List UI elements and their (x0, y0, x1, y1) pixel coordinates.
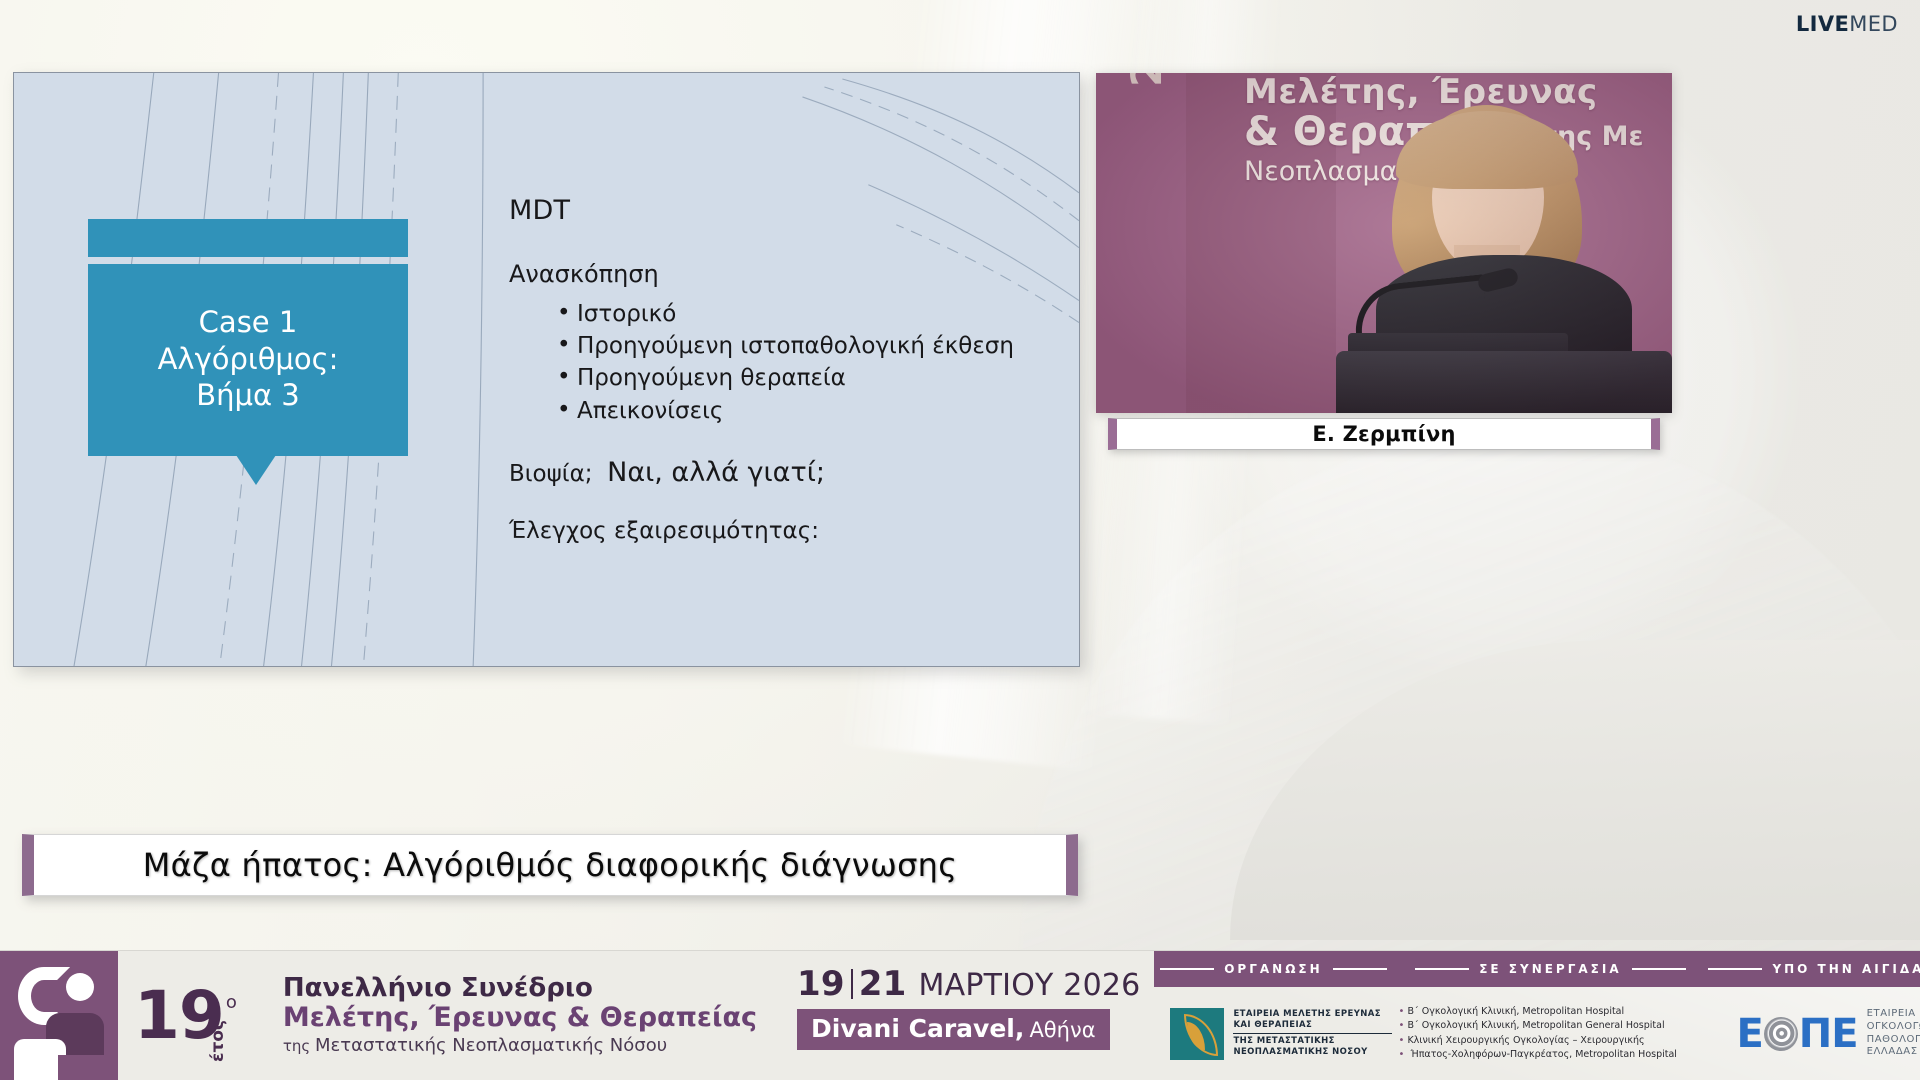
slide-resectability-line: Έλεγχος εξαιρεσιμότητας: (509, 518, 1054, 544)
logo-shape-notch (58, 1055, 104, 1080)
slide-content: MDT Ανασκόπηση Ιστορικό Προηγούμενη ιστο… (509, 195, 1054, 544)
callout-body: Case 1 Αλγόριθμος: Βήμα 3 (88, 264, 408, 456)
header-rule-right (1333, 968, 1387, 970)
edition-ordinal: ο (226, 992, 237, 1013)
partners-header-collaboration-label: ΣΕ ΣΥΝΕΡΓΑΣΙΑ (1479, 962, 1621, 976)
eope-logo: Ε ΠΕ (1736, 1014, 1857, 1054)
edition-word: έτος (208, 1020, 228, 1062)
partners-header-aegis-label: ΥΠΟ ΤΗΝ ΑΙΓΙΔΑ (1772, 962, 1920, 976)
congress-title-line-2: Μελέτης, Έρευνας & Θεραπείας (283, 1003, 757, 1034)
list-item: Β΄ Ογκολογική Κλινική, Metropolitan Hosp… (1398, 1005, 1708, 1019)
callout-top-bar (88, 219, 408, 257)
congress-title-block: 19 ο έτος Πανελλήνιο Συνέδριο Μελέτης, Έ… (118, 951, 769, 1080)
collaborators-list: Β΄ Ογκολογική Κλινική, Metropolitan Hosp… (1392, 1005, 1708, 1063)
list-item: Απεικονίσεις (509, 395, 1054, 427)
slide-section-heading: Ανασκόπηση (509, 260, 1054, 288)
slide-biopsy-line: Βιοψία; Ναι, αλλά γιατί; (509, 457, 1054, 488)
callout-line-1: Case 1 (102, 304, 394, 341)
partners-header-aegis: ΥΠΟ ΤΗΝ ΑΙΓΙΔΑ (1708, 962, 1920, 976)
organizer-logo-icon (1170, 1008, 1224, 1060)
conference-banner: 19 ο έτος Πανελλήνιο Συνέδριο Μελέτης, Έ… (0, 950, 1920, 1080)
congress-title-line-1: Πανελλήνιο Συνέδριο (283, 974, 757, 1003)
partners-header-collaboration: ΣΕ ΣΥΝΕΡΓΑΣΙΑ (1392, 962, 1708, 976)
venue-name: Divani Caravel, (811, 1014, 1024, 1043)
slide-caption-bar: Μάζα ήπατος: Αλγόριθμός διαφορικής διάγν… (22, 834, 1078, 896)
venue-city: Αθήνα (1029, 1018, 1095, 1042)
date-separator (851, 969, 853, 999)
callout-line-2: Αλγόριθμος: (102, 341, 394, 378)
header-rule-left (1708, 968, 1762, 970)
logo-shape-dot (66, 973, 94, 1001)
organizer-name-line-2: ΤΗΣ ΜΕΤΑΣΤΑΤΙΚΗΣ ΝΕΟΠΛΑΣΜΑΤΙΚΗΣ ΝΟΣΟΥ (1233, 1034, 1392, 1059)
list-item: Προηγούμενη θεραπεία (509, 362, 1054, 394)
list-item: Κλινική Χειρουργικής Ογκολογίας – Χειρου… (1398, 1034, 1708, 1048)
congress-title-line-3-prefix: της (283, 1037, 315, 1055)
aegis-block: Ε ΠΕ ΕΤΑΙΡΕΙΑ ΟΓΚΟΛΟΓΩΝ ΠΑΘΟΛΟΓΩΝ ΕΛΛΑΔΑ… (1708, 1008, 1920, 1059)
eope-subtitle-line-1: ΕΤΑΙΡΕΙΑ (1867, 1008, 1920, 1021)
spiral-icon (1764, 1017, 1798, 1051)
congress-title-line-3-main: Μεταστατικής Νεοπλασματικής Νόσου (315, 1035, 667, 1056)
organizer-block: ΕΤΑΙΡΕΙΑ ΜΕΛΕΤΗΣ ΕΡΕΥΝΑΣ ΚΑΙ ΘΕΡΑΠΕΙΑΣ Τ… (1154, 1008, 1392, 1060)
speaker-name: Ε. Ζερμπίνη (1312, 422, 1455, 446)
conference-dates: 1921 ΜΑΡΤΙΟΥ 2026 (797, 967, 1140, 1003)
eope-subtitle: ΕΤΑΙΡΕΙΑ ΟΓΚΟΛΟΓΩΝ ΠΑΘΟΛΟΓΩΝ ΕΛΛΑΔΑΣ (1867, 1008, 1920, 1059)
congress-title-lines: Πανελλήνιο Συνέδριο Μελέτης, Έρευνας & Θ… (283, 974, 757, 1057)
video-vignette (1096, 73, 1672, 413)
callout-pointer (236, 455, 276, 485)
presentation-slide[interactable]: Case 1 Αλγόριθμος: Βήμα 3 MDT Ανασκόπηση… (13, 72, 1080, 667)
livemed-logo-live: LIVE (1796, 12, 1849, 36)
date-from: 19 (797, 964, 845, 1004)
eope-logo-letters-pe: ΠΕ (1799, 1014, 1858, 1054)
organizer-name: ΕΤΑΙΡΕΙΑ ΜΕΛΕΤΗΣ ΕΡΕΥΝΑΣ ΚΑΙ ΘΕΡΑΠΕΙΑΣ Τ… (1233, 1009, 1392, 1059)
case-callout: Case 1 Αλγόριθμος: Βήμα 3 (88, 219, 408, 456)
slide-bullet-list: Ιστορικό Προηγούμενη ιστοπαθολογική έκθε… (509, 298, 1054, 427)
conference-logo-mark (0, 951, 118, 1080)
eope-subtitle-line-4: ΕΛΛΑΔΑΣ (1867, 1046, 1920, 1059)
eope-subtitle-line-2: ΟΓΚΟΛΟΓΩΝ (1867, 1021, 1920, 1034)
organizer-name-line-1: ΕΤΑΙΡΕΙΑ ΜΕΛΕΤΗΣ ΕΡΕΥΝΑΣ ΚΑΙ ΘΕΡΑΠΕΙΑΣ (1233, 1009, 1392, 1034)
biopsy-answer: Ναι, αλλά γιατί; (607, 457, 825, 488)
congress-title-line-3: της Μεταστατικής Νεοπλασματικής Νόσου (283, 1034, 757, 1057)
list-item-continuation: Ήπατος-Χοληφόρων-Παγκρέατος, Metropolita… (1398, 1048, 1708, 1062)
list-item: Β΄ Ογκολογική Κλινική, Metropolitan Gene… (1398, 1019, 1708, 1033)
date-month-year: ΜΑΡΤΙΟΥ 2026 (919, 968, 1141, 1003)
partners-header-bar: ΟΡΓΑΝΩΣΗ ΣΕ ΣΥΝΕΡΓΑΣΙΑ ΥΠΟ ΤΗΝ ΑΙΓΙΔΑ (1154, 951, 1920, 987)
header-rule-left (1160, 968, 1214, 970)
edition-number-block: 19 ο έτος (134, 986, 237, 1045)
partners-header-organization-label: ΟΡΓΑΝΩΣΗ (1224, 962, 1322, 976)
venue-badge: Divani Caravel, Αθήνα (797, 1009, 1110, 1050)
livemed-logo-med: MED (1849, 12, 1898, 36)
partners-block: ΟΡΓΑΝΩΣΗ ΣΕ ΣΥΝΕΡΓΑΣΙΑ ΥΠΟ ΤΗΝ ΑΙΓΙΔΑ (1154, 951, 1920, 1080)
date-venue-block: 1921 ΜΑΡΤΙΟΥ 2026 Divani Caravel, Αθήνα (769, 951, 1154, 1080)
header-rule-right (1632, 968, 1686, 970)
speaker-video[interactable]: 2013 Μελέτης, Έρευνας & Θεραπείας της Με… (1096, 73, 1672, 413)
eope-logo-letter-e: Ε (1736, 1014, 1762, 1054)
slide-title-mdt: MDT (509, 195, 1054, 226)
eope-subtitle-line-3: ΠΑΘΟΛΟΓΩΝ (1867, 1034, 1920, 1047)
list-item: Ιστορικό (509, 298, 1054, 330)
header-rule-left (1415, 968, 1469, 970)
partners-content: ΕΤΑΙΡΕΙΑ ΜΕΛΕΤΗΣ ΕΡΕΥΝΑΣ ΚΑΙ ΘΕΡΑΠΕΙΑΣ Τ… (1154, 987, 1920, 1080)
speaker-nameplate: Ε. Ζερμπίνη (1108, 418, 1660, 450)
caption-title: Μάζα ήπατος: Αλγόριθμός διαφορικής διάγν… (143, 846, 958, 884)
biopsy-label: Βιοψία; (509, 461, 593, 487)
callout-divider (88, 257, 408, 264)
partners-header-organization: ΟΡΓΑΝΩΣΗ (1154, 962, 1392, 976)
callout-line-3: Βήμα 3 (102, 377, 394, 414)
livemed-logo: LIVEMED (1796, 14, 1898, 35)
date-to: 21 (859, 964, 907, 1004)
list-item: Προηγούμενη ιστοπαθολογική έκθεση (509, 330, 1054, 362)
